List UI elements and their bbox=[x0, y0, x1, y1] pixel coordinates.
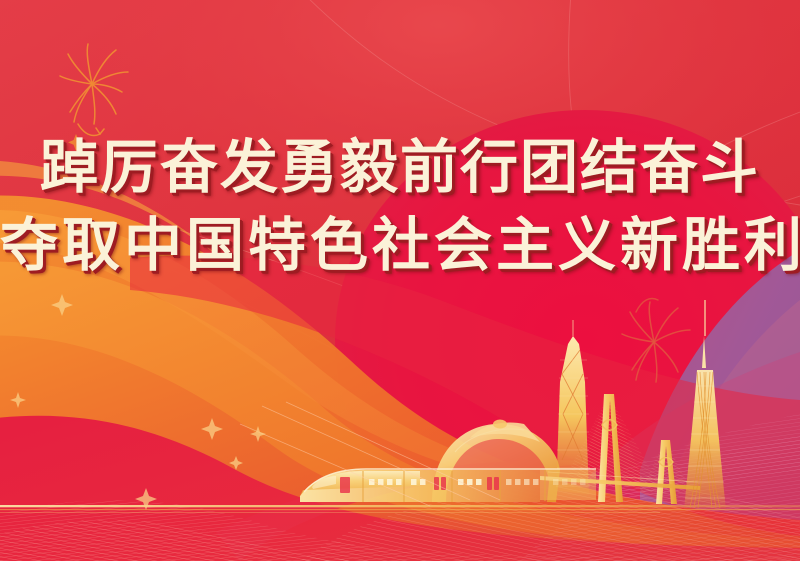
poster-canvas: 踔厉奋发勇毅前行团结奋斗 夺取中国特色社会主义新胜利 bbox=[0, 0, 800, 561]
background-art bbox=[0, 0, 800, 561]
high-speed-train bbox=[300, 469, 596, 502]
